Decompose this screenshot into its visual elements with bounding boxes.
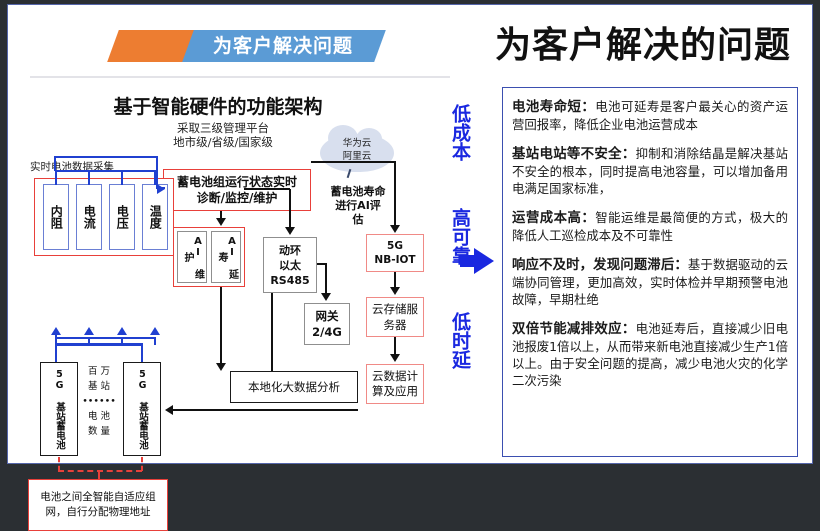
dash-mesh-bus: [58, 470, 142, 472]
connector-dh-to-gateway: [325, 263, 327, 295]
connector-monitor1-up: [55, 171, 57, 185]
arrow-hub-to-dh-icon: [285, 227, 295, 235]
cloud-vendor-label: 华为云 阿里云: [324, 137, 390, 163]
gateway-box: 网关 2/4G: [304, 303, 350, 345]
diagram-subtitle: 采取三级管理平台 地市级/省级/国家级: [128, 121, 318, 149]
arrow-up-monitor1-icon: [51, 327, 61, 335]
ai-life-extension-box: AI 延 寿: [211, 231, 241, 283]
benefits-column: 低成本 高可靠 低时延: [436, 100, 494, 410]
cloud-data-compute-box: 云数据计算及应用: [366, 364, 424, 404]
connector-bat-bus: [55, 343, 143, 346]
header-right-title: 为客户解决的问题: [478, 23, 808, 69]
arrow-to-hub-icon: [157, 184, 165, 194]
diagram-subtitle-line2: 地市级/省级/国家级: [128, 135, 318, 149]
problem-heading: 电池寿命短：: [512, 100, 595, 115]
problem-heading: 基站电站等不安全：: [512, 147, 636, 162]
dash-bat2-down: [141, 457, 143, 471]
problem-point: 双倍节能减排效应：电池延寿后，直接减少旧电池报废1倍以上，从而带来新电池直接减少…: [512, 320, 788, 389]
connector-collect-bus: [55, 170, 158, 172]
header-left-title: 为客户解决问题: [193, 33, 373, 60]
benefit-low-cost: 低成本: [444, 104, 470, 161]
dh-ethernet-box: 动环 以太 RS485: [263, 237, 317, 293]
connector-monitor3-up: [121, 171, 123, 185]
connector-bat-riser-2: [141, 344, 143, 362]
connector-hub-right: [244, 188, 290, 190]
monitor-item-voltage: 电压: [109, 184, 135, 250]
arrow-up-monitor3-icon: [117, 327, 127, 335]
cloud-storage-server-box: 云存储服务器: [366, 297, 424, 337]
connector-bus-top: [54, 156, 158, 158]
diagram-title: 基于智能硬件的功能架构: [68, 92, 368, 119]
problem-point: 基站电站等不安全：抑制和消除结晶是解决基站不安全的根本，同时提高电池容量，可以增…: [512, 145, 788, 197]
arrow-feedback-icon: [165, 405, 173, 415]
connector-dh-down: [271, 293, 273, 371]
connector-bus-down: [156, 156, 158, 189]
arrow-dh-to-gateway-icon: [321, 293, 331, 301]
header-divider: [30, 76, 450, 78]
battery-box-1: 5G 基站蓄电池: [40, 362, 78, 456]
hub-box-line2: 诊断/监控/维护: [177, 190, 297, 206]
problem-point: 电池寿命短：电池可延寿是客户最关心的资产运营回报率，降低企业电池运营成本: [512, 98, 788, 133]
problem-heading: 运营成本高：: [512, 211, 595, 226]
monitor-item-internal-resistance: 内阻: [43, 184, 69, 250]
dash-bat1-down: [58, 457, 60, 471]
slide-header: 为客户解决问题 为客户解决的问题: [8, 5, 814, 71]
arrow-up-monitor4-icon: [150, 327, 160, 335]
benefit-low-latency: 低时延: [444, 312, 470, 369]
connector-bat-riser-1: [55, 344, 57, 362]
problems-panel: 电池寿命短：电池可延寿是客户最关心的资产运营回报率，降低企业电池运营成本 基站电…: [502, 87, 798, 457]
arrow-hub-to-ai-icon: [216, 218, 226, 226]
arrow-cloud-to-nbiot-icon: [390, 225, 400, 233]
local-bigdata-box: 本地化大数据分析: [230, 371, 358, 403]
diagram-subtitle-line1: 采取三级管理平台: [128, 121, 318, 135]
connector-ai-to-bigdata: [220, 287, 222, 365]
problem-point: 响应不及时，发现问题滞后：基于数据驱动的云端协同管理，更加高效，实时体检并早期预…: [512, 256, 788, 308]
connector-feedback-to-battery: [173, 409, 358, 411]
problem-heading: 双倍节能减排效应：: [512, 322, 636, 337]
problem-heading: 响应不及时，发现问题滞后：: [512, 258, 688, 273]
battery-box-2: 5G 基站蓄电池: [123, 362, 161, 456]
benefits-arrow-icon: [474, 248, 494, 274]
slide-canvas: 为客户解决问题 为客户解决的问题 基于智能硬件的功能架构 采取三级管理平台 地市…: [7, 4, 813, 464]
arrow-ai-to-bigdata-icon: [216, 363, 226, 371]
problem-point: 运营成本高：智能运维是最简便的方式，极大的降低人工巡检成本及不可靠性: [512, 209, 788, 244]
architecture-diagram: 基于智能硬件的功能架构 采取三级管理平台 地市级/省级/国家级 实时电池数据采集…: [8, 79, 488, 465]
connector-monitor2-up: [88, 171, 90, 185]
connector-bus-riser: [54, 157, 56, 171]
arrow-nbiot-to-cloudsrv-icon: [390, 287, 400, 295]
ai-evaluation-label: 蓄电池寿命进行AI评估: [330, 185, 386, 227]
connector-hub-to-dh: [289, 189, 291, 229]
ai-maintenance-box: AI 维 护: [177, 231, 207, 283]
mesh-note-box: 电池之间全智能自适应组网，自行分配物理地址: [28, 479, 168, 531]
arrow-up-monitor2-icon: [84, 327, 94, 335]
nbiot-box: 5G NB-IOT: [366, 234, 424, 272]
connector-bat-up-1: [55, 334, 57, 344]
monitor-item-current: 电流: [76, 184, 102, 250]
battery-count-label: 百 万 基 站 •••••• 电 池 数 量: [82, 364, 116, 456]
arrow-cloudsrv-to-clouddata-icon: [390, 354, 400, 362]
connector-cloud-down: [394, 161, 396, 227]
connector-bat-bus2: [55, 337, 156, 339]
